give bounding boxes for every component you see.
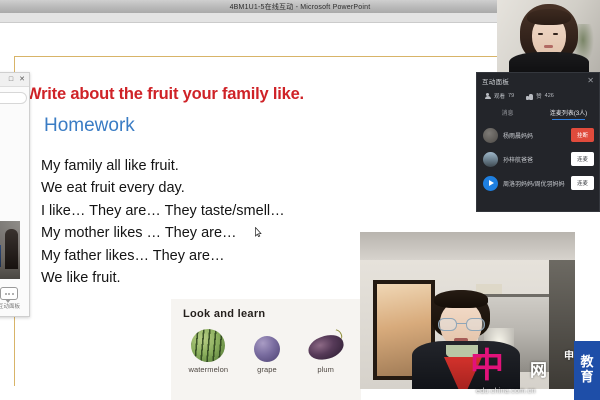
teacher-bangs bbox=[527, 9, 571, 25]
slide-line: My mother likes … They are… bbox=[41, 222, 381, 244]
watermark-secondary-char: 网 bbox=[530, 363, 547, 380]
mini-search-input[interactable] bbox=[0, 92, 27, 104]
connect-button[interactable]: 连麦 bbox=[571, 176, 594, 190]
teacher-eye bbox=[538, 33, 543, 35]
stat-value: 79 bbox=[508, 93, 514, 99]
chat-dot bbox=[12, 293, 14, 295]
watermark-url: edu.china.com.cn bbox=[476, 388, 536, 395]
fruit-caption: watermelon bbox=[180, 365, 236, 374]
stat-label: 赞 bbox=[536, 92, 542, 100]
people-icon bbox=[484, 93, 491, 100]
chat-dot bbox=[5, 293, 7, 295]
mini-window-titlebar[interactable]: □ ✕ bbox=[0, 73, 29, 87]
slide-line: I like… They are… They taste/smell… bbox=[41, 200, 381, 222]
watermark-side-text: 申 bbox=[564, 347, 574, 362]
participant-name: 杨雨晨妈妈 bbox=[503, 131, 566, 140]
participant-list: 杨雨晨妈妈 挂断 孙梓航爸爸 连麦 周洛羽妈妈/周优羽妈妈 连麦 bbox=[477, 123, 599, 195]
close-icon[interactable]: ✕ bbox=[18, 76, 26, 83]
mini-video-thumbnail[interactable] bbox=[0, 221, 20, 279]
participant-name: 周洛羽妈妈/周优羽妈妈 bbox=[503, 179, 566, 188]
badge-char: 教 bbox=[580, 356, 593, 370]
look-and-learn-items: watermelon grape plum bbox=[179, 329, 355, 374]
grape-icon bbox=[254, 336, 280, 362]
stat-likes: 赞 426 bbox=[526, 92, 554, 100]
avatar bbox=[483, 152, 498, 167]
fruit-caption: grape bbox=[239, 365, 295, 374]
glasses-lens-left bbox=[438, 318, 457, 331]
watermelon-icon bbox=[191, 329, 225, 362]
watermark: 中 网 edu.china.com.cn 申 教 育 bbox=[468, 341, 600, 400]
chat-dot bbox=[8, 293, 10, 295]
screen-root: 4BM1U1-5在线互动 - Microsoft PowerPoint Writ… bbox=[0, 0, 600, 400]
fruit-item-watermelon: watermelon bbox=[180, 329, 236, 374]
look-and-learn-title: Look and learn bbox=[183, 308, 265, 320]
participant-row[interactable]: 杨雨晨妈妈 挂断 bbox=[477, 123, 599, 147]
chat-bubble-icon[interactable] bbox=[0, 287, 18, 300]
stat-viewers: 观看 79 bbox=[484, 92, 514, 100]
fruit-item-grape: grape bbox=[239, 333, 295, 374]
participant-name: 孙梓航爸爸 bbox=[503, 155, 566, 164]
glasses-lens-right bbox=[466, 318, 485, 331]
mini-window-footer: 互动面板 bbox=[0, 287, 29, 310]
connect-button[interactable]: 连麦 bbox=[571, 152, 594, 166]
tab-participant-list[interactable]: 连麦列表(3人) bbox=[538, 104, 599, 120]
student-bangs bbox=[434, 290, 488, 308]
fruit-item-plum: plum bbox=[298, 329, 354, 374]
participant-row[interactable]: 周洛羽妈妈/周优羽妈妈 连麦 bbox=[477, 171, 599, 195]
play-icon bbox=[489, 180, 494, 186]
teacher-mouth bbox=[544, 45, 553, 48]
stat-label: 观看 bbox=[494, 92, 505, 100]
panel-header: 互动面板 ✕ bbox=[477, 73, 599, 89]
slide-line: We eat fruit every day. bbox=[41, 177, 381, 199]
student-ceiling bbox=[360, 232, 575, 260]
badge-char: 育 bbox=[580, 371, 593, 385]
fruit-caption: plum bbox=[298, 365, 354, 374]
thumb-up-icon bbox=[526, 93, 533, 100]
stat-value: 426 bbox=[545, 93, 554, 99]
avatar bbox=[483, 128, 498, 143]
close-icon[interactable]: ✕ bbox=[587, 77, 594, 85]
hangup-button[interactable]: 挂断 bbox=[571, 128, 594, 142]
plum-icon bbox=[306, 329, 346, 362]
slide-subheading: Homework bbox=[44, 115, 135, 137]
window-title: 4BM1U1-5在线互动 - Microsoft PowerPoint bbox=[230, 2, 371, 12]
watermark-logo: 中 网 edu.china.com.cn bbox=[468, 345, 560, 389]
mini-foot-label: 互动面板 bbox=[0, 302, 20, 310]
slide-body-text: My family all like fruit. We eat fruit e… bbox=[41, 155, 381, 289]
slide-line: My family all like fruit. bbox=[41, 155, 381, 177]
slide-heading: Write about the fruit your family like. bbox=[26, 85, 304, 104]
interaction-panel[interactable]: 互动面板 ✕ 观看 79 赞 426 消息 连麦列表(3人) 杨雨晨妈妈 挂 bbox=[476, 72, 600, 212]
teacher-video-feed[interactable] bbox=[497, 0, 600, 78]
panel-title: 互动面板 bbox=[482, 76, 509, 86]
slide-line: We like fruit. bbox=[41, 267, 381, 289]
look-and-learn-card: Look and learn watermelon grape bbox=[171, 299, 361, 400]
participant-row[interactable]: 孙梓航爸爸 连麦 bbox=[477, 147, 599, 171]
watermark-badge: 教 育 bbox=[574, 341, 600, 400]
panel-tabs: 消息 连麦列表(3人) bbox=[477, 104, 599, 120]
maximize-icon[interactable]: □ bbox=[7, 76, 15, 83]
teacher-eye bbox=[553, 33, 558, 35]
student-glasses bbox=[438, 318, 485, 331]
tab-messages[interactable]: 消息 bbox=[477, 104, 538, 120]
watermark-primary-char: 中 bbox=[470, 349, 504, 383]
mini-floating-window[interactable]: □ ✕ 互动面板 bbox=[0, 72, 30, 317]
slide-line: My father likes… They are… bbox=[41, 245, 381, 267]
glasses-bridge bbox=[457, 323, 466, 324]
avatar bbox=[483, 176, 498, 191]
panel-stats: 观看 79 赞 426 bbox=[477, 89, 599, 103]
